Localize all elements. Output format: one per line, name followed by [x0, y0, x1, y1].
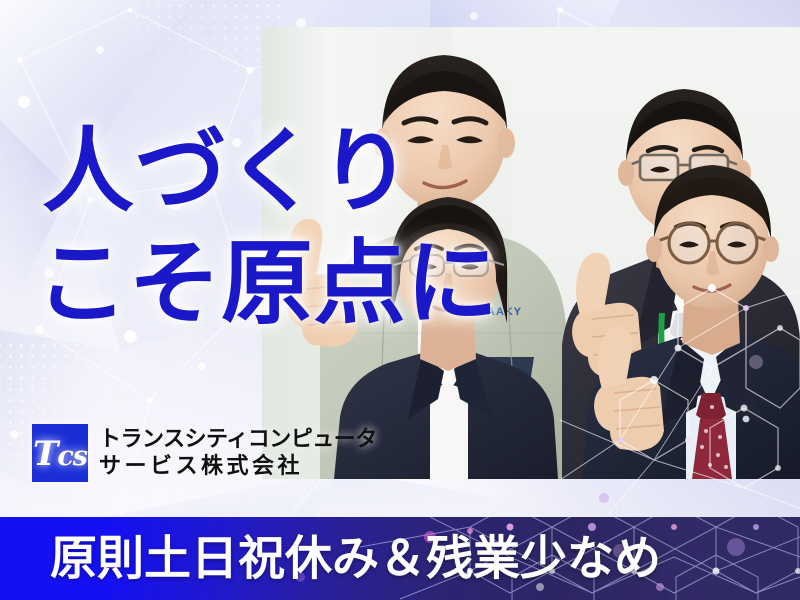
bokeh-dot [470, 12, 478, 20]
logo-mark-rest: cs [57, 441, 87, 472]
company-name-line-1: トランスシティコンピュータ [99, 428, 377, 451]
company-name-line-2: サービス株式会社 [99, 455, 377, 478]
company-name: トランスシティコンピュータ サービス株式会社 [99, 428, 377, 477]
bokeh-dot [10, 430, 19, 439]
company-logo: Tcs トランスシティコンピュータ サービス株式会社 [32, 424, 377, 482]
banner-headline: 原則土日祝休み＆残業少なめ [50, 535, 661, 582]
logo-mark-initial: T [33, 434, 57, 474]
bottom-banner: 原則土日祝休み＆残業少なめ [0, 517, 800, 600]
logo-mark-tcs: Tcs [32, 424, 88, 482]
banner-canvas: TAAKY [0, 0, 800, 600]
logo-mark-text: Tcs [33, 437, 87, 471]
bokeh-dot [198, 362, 206, 370]
headline-line-2: こそ原点に [36, 238, 499, 330]
bokeh-dot [96, 46, 104, 54]
bokeh-dot [18, 96, 30, 108]
headline-line-1: 人づくり [42, 126, 412, 218]
